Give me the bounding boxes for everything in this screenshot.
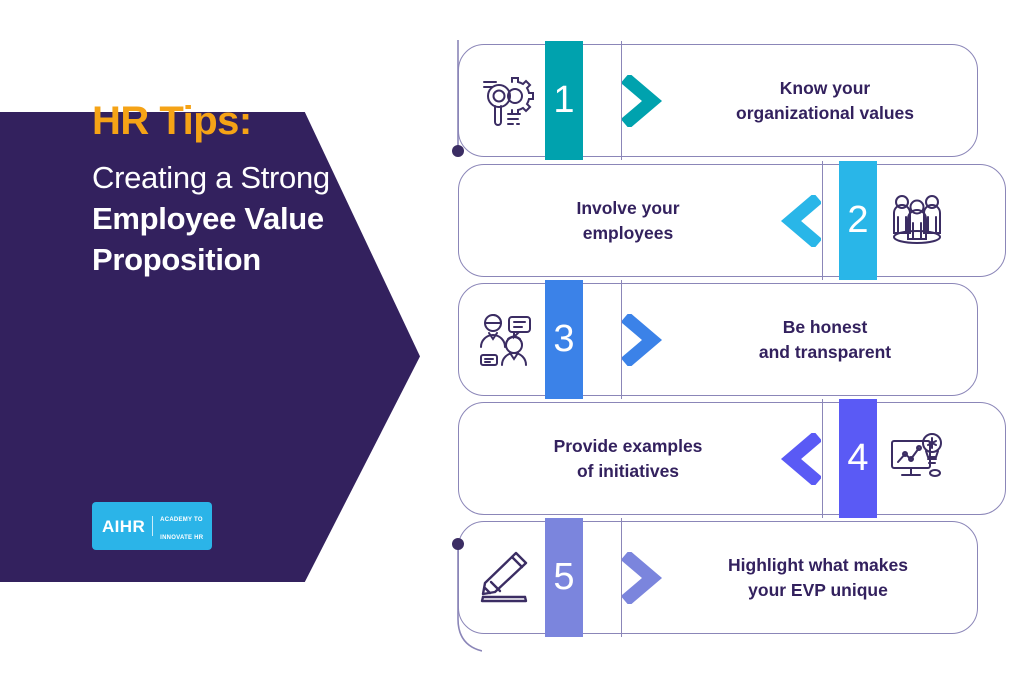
logo-brand-text: AIHR [102, 518, 145, 535]
magnifier-gear-icon [476, 70, 536, 130]
pen-writing-icon [474, 547, 536, 607]
logo-tagline-line2: INNOVATE HR [160, 535, 203, 541]
connector-dot-start [452, 145, 464, 157]
step-band-3: 3 [545, 280, 583, 399]
group-people-icon [888, 191, 946, 249]
logo-tagline: ACADEMY TO INNOVATE HR [160, 508, 203, 544]
chevron-left-icon-4 [777, 433, 821, 485]
page-title-line1: Creating a Strong [92, 158, 422, 199]
step-number-3: 3 [545, 320, 583, 358]
chevron-left-icon-2 [777, 195, 821, 247]
monitor-chart-idea-icon [888, 429, 946, 487]
hero-text-block: HR Tips: Creating a Strong Employee Valu… [92, 100, 422, 281]
step-number-4: 4 [839, 439, 877, 477]
steps-list: 1 Know yourorganizational values [440, 0, 1024, 680]
two-people-chat-icon [476, 309, 536, 369]
step-label-1: Know yourorganizational values [680, 76, 970, 126]
chevron-right-icon-5 [622, 552, 666, 604]
chevron-right-icon-1 [622, 75, 666, 127]
page-title-line2: Employee Value [92, 199, 422, 240]
logo-tagline-line1: ACADEMY TO [160, 517, 203, 523]
step-divider-4 [822, 399, 823, 518]
step-label-4: Provide examplesof initiatives [488, 434, 768, 484]
step-number-1: 1 [545, 81, 583, 119]
connector-dot-end [452, 538, 464, 550]
page-title-line3: Proposition [92, 240, 422, 281]
page-title-eyebrow: HR Tips: [92, 100, 422, 142]
step-number-2: 2 [839, 201, 877, 239]
step-label-2: Involve youremployees [488, 196, 768, 246]
step-band-4: 4 [839, 399, 877, 518]
aihr-logo: AIHR ACADEMY TO INNOVATE HR [92, 502, 212, 550]
step-divider-2 [822, 161, 823, 280]
logo-divider [152, 516, 153, 536]
step-band-5: 5 [545, 518, 583, 637]
step-band-2: 2 [839, 161, 877, 280]
infographic-canvas: HR Tips: Creating a Strong Employee Valu… [0, 0, 1024, 680]
step-label-3: Be honestand transparent [680, 315, 970, 365]
chevron-right-icon-3 [622, 314, 666, 366]
step-number-5: 5 [545, 558, 583, 596]
step-label-5: Highlight what makesyour EVP unique [668, 553, 968, 603]
step-band-1: 1 [545, 41, 583, 160]
